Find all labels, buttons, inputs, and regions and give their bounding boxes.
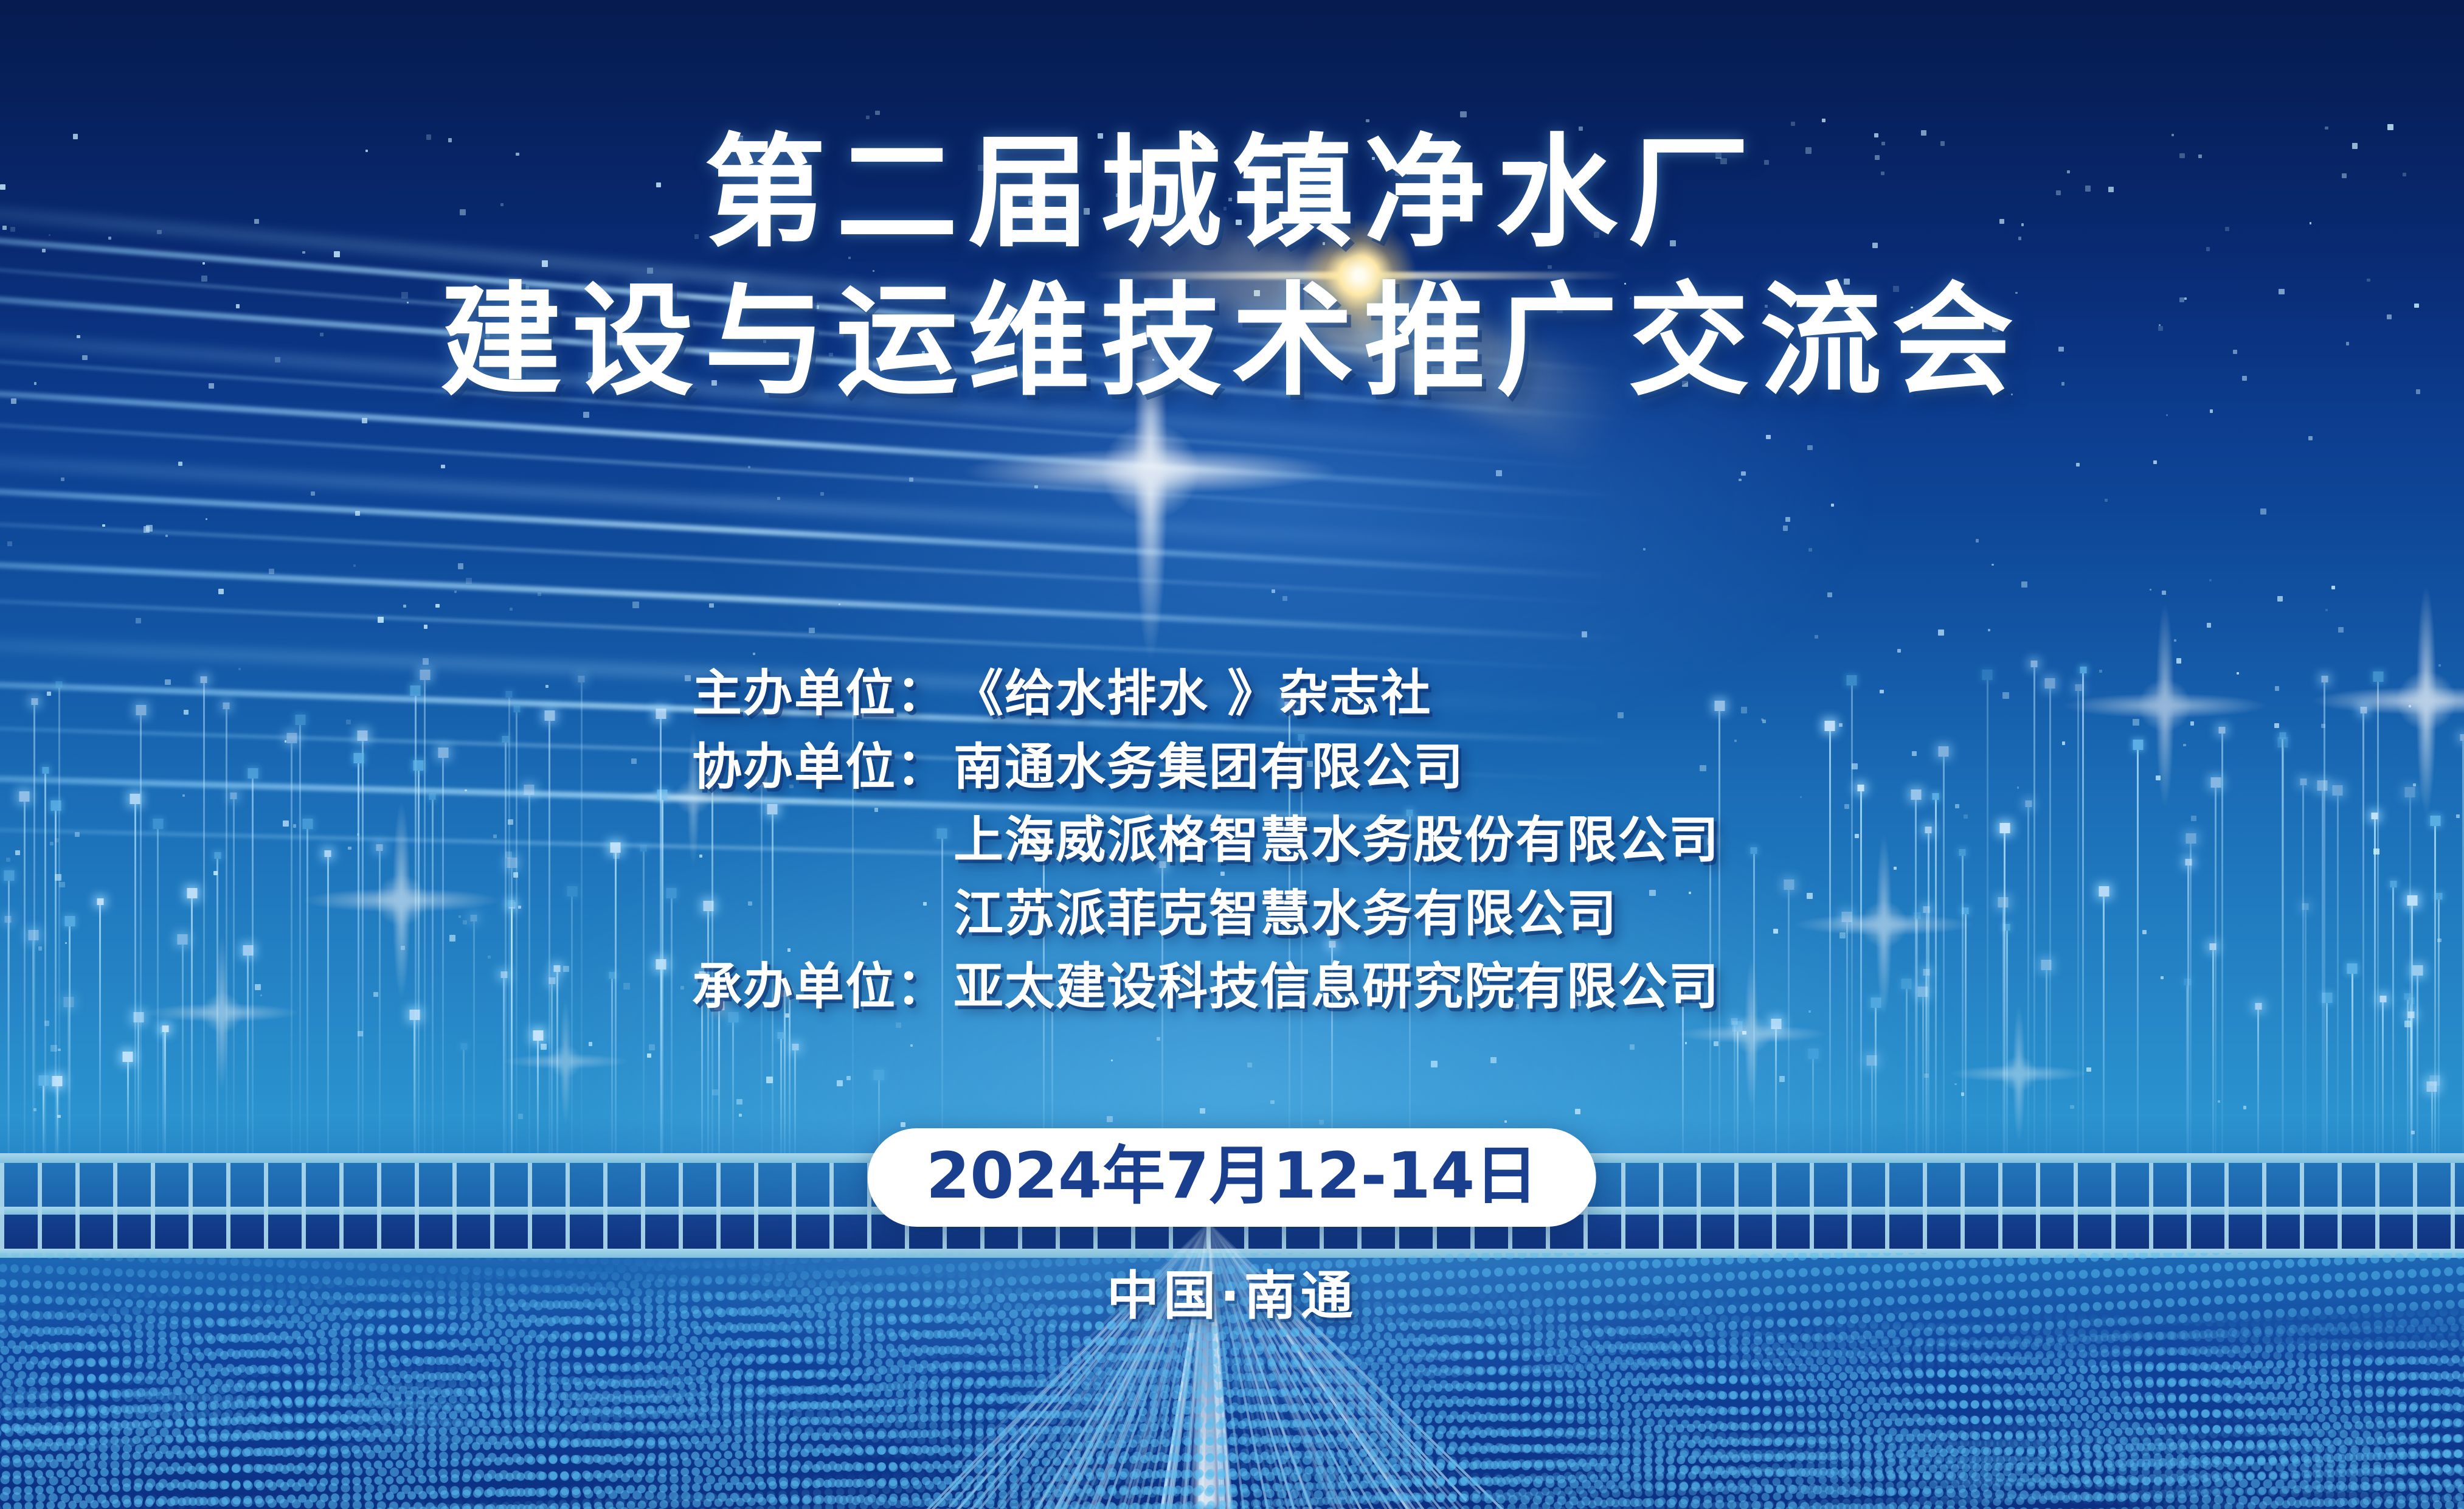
organizer-value: 亚太建设科技信息研究院有限公司 [953,955,1720,1020]
organizer-row: 主办单位：上海威派格智慧水务股份有限公司 [692,808,1720,873]
organizer-row: 主办单位：《给水排水 》杂志社 [692,662,1720,727]
organizer-value: 《给水排水 》杂志社 [953,662,1432,727]
title-line-2: 建设与运维技术推广交流会 [0,268,2464,416]
date-badge: 2024年7月12-14日 [868,1128,1596,1227]
organizer-value: 上海威派格智慧水务股份有限公司 [953,808,1720,873]
organizer-label: 主办单位： [692,662,953,727]
organizer-value: 南通水务集团有限公司 [953,735,1464,800]
organizer-row: 主办单位：江苏派菲克智慧水务有限公司 [692,882,1720,947]
poster-title: 第二届城镇净水厂 建设与运维技术推广交流会 [0,119,2464,416]
organizer-row: 承办单位：亚太建设科技信息研究院有限公司 [692,955,1720,1020]
organizer-label: 协办单位： [692,735,953,800]
organizer-value: 江苏派菲克智慧水务有限公司 [953,882,1618,947]
organizer-list: 主办单位：《给水排水 》杂志社协办单位：南通水务集团有限公司主办单位：上海威派格… [692,662,1720,1029]
organizer-label: 承办单位： [692,955,953,1020]
location-text: 中国·南通 [1107,1253,1357,1329]
title-line-1: 第二届城镇净水厂 [0,119,2464,268]
date-text: 2024年7月12-14日 [926,1144,1538,1207]
organizer-row: 协办单位：南通水务集团有限公司 [692,735,1720,800]
conference-poster: 第二届城镇净水厂 建设与运维技术推广交流会 主办单位：《给水排水 》杂志社协办单… [0,0,2464,1509]
